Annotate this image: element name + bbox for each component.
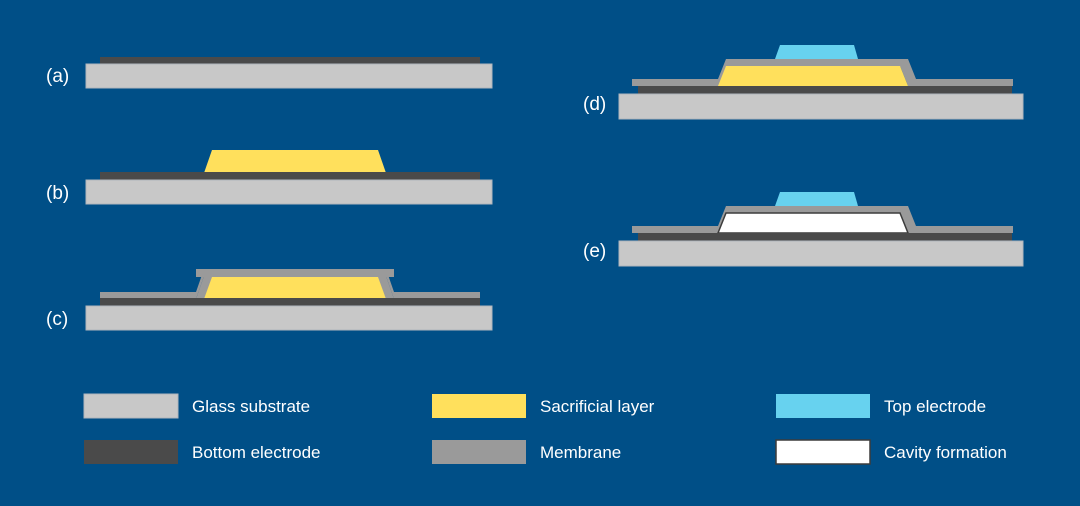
glass-substrate-layer bbox=[86, 180, 492, 204]
process-flow-figure: (a) (b) (c) (d) (e) bbox=[0, 0, 1080, 506]
glass-substrate-layer bbox=[86, 64, 492, 88]
top-electrode-layer bbox=[775, 192, 858, 206]
step-label-b: (b) bbox=[46, 183, 69, 204]
legend-swatch-top-electrode bbox=[776, 394, 870, 418]
legend-swatch-cavity-formation bbox=[776, 440, 870, 464]
legend-label-bottom-electrode: Bottom electrode bbox=[192, 443, 321, 462]
sacrificial-layer bbox=[718, 66, 908, 86]
legend-label-cavity-formation: Cavity formation bbox=[884, 443, 1007, 462]
legend-item-glass-substrate: Glass substrate bbox=[84, 394, 310, 418]
legend-swatch-sacrificial-layer bbox=[432, 394, 526, 418]
glass-substrate-layer bbox=[86, 306, 492, 330]
legend-label-sacrificial-layer: Sacrificial layer bbox=[540, 397, 655, 416]
glass-substrate-layer bbox=[619, 241, 1023, 266]
legend-swatch-glass-substrate bbox=[84, 394, 178, 418]
step-label-c: (c) bbox=[46, 309, 68, 330]
legend-label-membrane: Membrane bbox=[540, 443, 621, 462]
sacrificial-layer bbox=[204, 277, 386, 299]
glass-substrate-layer bbox=[619, 94, 1023, 119]
legend-label-top-electrode: Top electrode bbox=[884, 397, 986, 416]
cavity-region bbox=[718, 213, 908, 233]
step-label-d: (d) bbox=[583, 94, 606, 115]
step-label-e: (e) bbox=[583, 241, 606, 262]
legend-swatch-bottom-electrode bbox=[84, 440, 178, 464]
legend-item-cavity-formation: Cavity formation bbox=[776, 440, 1007, 464]
step-label-a: (a) bbox=[46, 66, 69, 87]
top-electrode-layer bbox=[775, 45, 858, 59]
legend-item-sacrificial-layer: Sacrificial layer bbox=[432, 394, 655, 418]
process-step-a: (a) bbox=[46, 57, 492, 88]
membrane-layer-top bbox=[196, 269, 394, 277]
legend-swatch-membrane bbox=[432, 440, 526, 464]
legend-item-bottom-electrode: Bottom electrode bbox=[84, 440, 321, 464]
legend-label-glass-substrate: Glass substrate bbox=[192, 397, 310, 416]
sacrificial-layer bbox=[204, 150, 386, 173]
